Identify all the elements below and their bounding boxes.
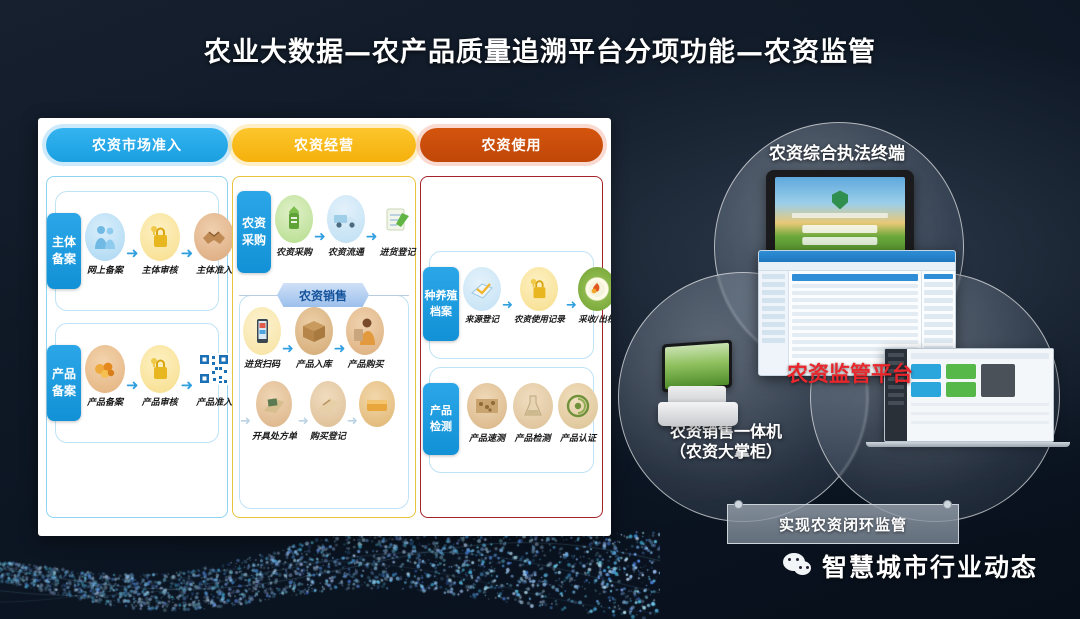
goods-icon bbox=[359, 381, 395, 427]
wechat-watermark: 智慧城市行业动态 bbox=[783, 548, 1038, 584]
venn-label-enforcement: 农资综合执法终端 bbox=[612, 144, 1062, 165]
arrow-right-icon: ➜ bbox=[240, 414, 251, 427]
arrow-right-icon: ➜ bbox=[126, 246, 139, 261]
vtab-line2: 备案 bbox=[52, 383, 76, 400]
people-icon bbox=[85, 213, 125, 261]
step-product-purchase[interactable]: 产品购买 bbox=[346, 307, 384, 370]
step-label: 农资采购 bbox=[276, 245, 312, 258]
vtab-planting-archive[interactable]: 种养殖 档案 bbox=[423, 267, 459, 341]
arrow-right-icon: ➜ bbox=[366, 229, 378, 243]
arrow-right-icon: ➜ bbox=[566, 298, 577, 311]
step-prescription[interactable]: 开具处方单 bbox=[252, 381, 297, 442]
venn-center-label: 农资监管平台 bbox=[760, 358, 940, 388]
step-label: 购买登记 bbox=[310, 429, 346, 442]
flow-product-testing: 产品速测 产品检测 bbox=[467, 383, 598, 444]
vtab-line2: 档案 bbox=[430, 304, 452, 320]
step-subject-access[interactable]: 主体准入 bbox=[194, 213, 234, 276]
step-usage-record[interactable]: 农资使用记录 bbox=[514, 267, 565, 325]
column-header-market-access: 农资市场准入 bbox=[46, 128, 228, 162]
step-inbound-register[interactable]: 进货登记 bbox=[378, 195, 416, 258]
step-product-filing[interactable]: 产品备案 bbox=[85, 345, 125, 408]
page-title: 农业大数据—农产品质量追溯平台分项功能—农资监管 bbox=[0, 30, 1080, 69]
vtab-line1: 种养殖 bbox=[425, 288, 458, 304]
column-market-access: 农资市场准入 主体 备案 bbox=[46, 128, 228, 526]
step-product-review[interactable]: 产品审核 bbox=[140, 345, 180, 408]
wechat-icon bbox=[783, 553, 813, 579]
vtab-line2: 检测 bbox=[430, 419, 452, 435]
scan-phone-icon bbox=[243, 307, 281, 355]
step-purchase-register[interactable]: 购买登记 bbox=[310, 381, 346, 442]
arrow-right-icon: ➜ bbox=[181, 378, 194, 393]
lab-test-icon bbox=[513, 383, 553, 429]
grain-sample-icon bbox=[467, 383, 507, 429]
lock-key-icon bbox=[520, 267, 558, 311]
certified-seal-icon bbox=[558, 383, 598, 429]
column-header-usage: 农资使用 bbox=[420, 128, 603, 162]
step-label: 来源登记 bbox=[465, 313, 499, 325]
produce-icon bbox=[85, 345, 125, 393]
fertilizer-icon bbox=[275, 195, 313, 243]
step-certification[interactable]: 产品认证 bbox=[558, 383, 598, 444]
flow-sales-row-2: ➜ 开具处方单 ➜ bbox=[239, 381, 413, 442]
step-label: 产品入库 bbox=[296, 357, 332, 370]
handshake-icon bbox=[194, 213, 234, 261]
step-subject-review[interactable]: 主体审核 bbox=[140, 213, 180, 276]
step-label: 农资流通 bbox=[328, 245, 364, 258]
vtab-line2: 备案 bbox=[52, 251, 76, 268]
venn-label-sales-line2: （农资大掌柜） bbox=[608, 442, 844, 462]
panel-operation: 农资 采购 农资采购 bbox=[232, 176, 416, 518]
flow-procurement: 农资采购 ➜ 农资流通 ➜ bbox=[275, 195, 413, 258]
step-circulation[interactable]: 农资流通 bbox=[327, 195, 365, 258]
column-operation: 农资经营 农资 采购 bbox=[232, 128, 416, 526]
truck-icon bbox=[327, 195, 365, 243]
carton-box-icon bbox=[295, 307, 333, 355]
step-source-register[interactable]: 来源登记 bbox=[463, 267, 501, 325]
step-goods[interactable] bbox=[359, 381, 395, 429]
step-label: 开具处方单 bbox=[252, 429, 297, 442]
step-product-access[interactable]: 产品准入 bbox=[194, 345, 234, 408]
step-label: 产品审核 bbox=[142, 395, 178, 408]
functional-diagram-board: 农资市场准入 主体 备案 bbox=[38, 118, 611, 536]
vtab-line2: 采购 bbox=[242, 232, 266, 249]
arrow-right-icon: ➜ bbox=[298, 414, 309, 427]
step-harvest[interactable]: 采收/出栏 bbox=[578, 267, 611, 325]
step-rapid-test[interactable]: 产品速测 bbox=[467, 383, 507, 444]
laptop-base bbox=[866, 442, 1071, 447]
subbanner-line-left bbox=[239, 295, 279, 296]
vtab-product-filing[interactable]: 产品 备案 bbox=[47, 345, 81, 421]
step-label: 主体审核 bbox=[142, 263, 178, 276]
step-label: 进货登记 bbox=[379, 245, 415, 258]
subbanner-line-right bbox=[369, 295, 409, 296]
step-product-inbound[interactable]: 产品入库 bbox=[295, 307, 333, 370]
vtab-line1: 农资 bbox=[242, 215, 266, 232]
step-procurement[interactable]: 农资采购 bbox=[275, 195, 313, 258]
column-header-operation: 农资经营 bbox=[232, 128, 416, 162]
slide-background: 农业大数据—农产品质量追溯平台分项功能—农资监管 农资市场准入 主体 备案 bbox=[0, 0, 1080, 619]
arrow-right-icon: ➜ bbox=[126, 378, 139, 393]
prescription-icon bbox=[256, 381, 292, 427]
pos-base bbox=[658, 402, 738, 426]
vtab-line1: 主体 bbox=[52, 234, 76, 251]
step-online-filing[interactable]: 网上备案 bbox=[85, 213, 125, 276]
receipt-icon bbox=[310, 381, 346, 427]
register-doc-icon bbox=[463, 267, 501, 311]
step-label: 农资使用记录 bbox=[514, 313, 565, 325]
vtab-product-testing[interactable]: 产品 检测 bbox=[423, 383, 459, 455]
closed-loop-banner: 实现农资闭环监管 bbox=[727, 504, 959, 544]
arrow-right-icon: ➜ bbox=[502, 298, 513, 311]
arrow-right-icon: ➜ bbox=[181, 246, 194, 261]
tablet-field-1 bbox=[802, 225, 877, 233]
shield-icon bbox=[832, 190, 848, 209]
flow-sales-row-1: 进货扫码 ➜ 产品入库 ➜ bbox=[243, 307, 411, 370]
watermark-text: 智慧城市行业动态 bbox=[822, 548, 1038, 584]
flow-subject-filing: 网上备案 ➜ 主体审核 ➜ bbox=[85, 213, 223, 276]
flow-product-filing: 产品备案 ➜ 产品审核 ➜ bbox=[85, 345, 223, 408]
erp-title-bar bbox=[759, 251, 955, 262]
vtab-line1: 产品 bbox=[430, 403, 452, 419]
vtab-subject-filing[interactable]: 主体 备案 bbox=[47, 213, 81, 289]
step-label: 产品准入 bbox=[196, 395, 232, 408]
tablet-field-2 bbox=[802, 237, 877, 245]
step-label: 进货扫码 bbox=[244, 357, 280, 370]
pos-screen bbox=[662, 340, 732, 393]
panel-market-access: 主体 备案 网上备案 ➜ bbox=[46, 176, 228, 518]
vtab-line1: 产品 bbox=[52, 366, 76, 383]
step-label: 采收/出栏 bbox=[578, 313, 611, 325]
tablet-title-bar bbox=[792, 213, 888, 218]
step-label: 产品备案 bbox=[87, 395, 123, 408]
sub-banner-sales: 农资销售 bbox=[277, 283, 369, 307]
shopper-icon bbox=[346, 307, 384, 355]
panel-usage: 种养殖 档案 来源登记 ➜ bbox=[420, 176, 603, 518]
lock-key-icon bbox=[140, 213, 180, 261]
arrow-right-icon: ➜ bbox=[347, 414, 358, 427]
pos-terminal-device[interactable] bbox=[654, 338, 744, 430]
step-label: 主体准入 bbox=[196, 263, 232, 276]
step-scan-code[interactable]: 进货扫码 bbox=[243, 307, 281, 370]
step-lab-test[interactable]: 产品检测 bbox=[513, 383, 553, 444]
lock-key-icon bbox=[140, 345, 180, 393]
step-label: 产品速测 bbox=[469, 431, 505, 444]
step-label: 产品检测 bbox=[514, 431, 550, 444]
step-label: 网上备案 bbox=[87, 263, 123, 276]
arrow-right-icon: ➜ bbox=[282, 341, 294, 355]
step-label: 产品购买 bbox=[347, 357, 383, 370]
step-label: 产品认证 bbox=[560, 431, 596, 444]
vtab-procurement[interactable]: 农资 采购 bbox=[237, 191, 271, 273]
qr-code-icon bbox=[194, 345, 234, 393]
flow-planting-archive: 来源登记 ➜ 农资使用记录 ➜ bbox=[463, 267, 600, 325]
arrow-right-icon: ➜ bbox=[314, 229, 326, 243]
harvest-icon bbox=[578, 267, 611, 311]
venn-diagram: 农资综合执法终端 农资销售一体机 （农资大掌柜） 农资经销商管理系统 bbox=[612, 122, 1062, 542]
clipboard-icon bbox=[378, 195, 416, 243]
arrow-right-icon: ➜ bbox=[334, 341, 346, 355]
erp-toolbar bbox=[759, 262, 955, 271]
column-usage: 农资使用 种养殖 档案 来源登记 bbox=[420, 128, 603, 526]
